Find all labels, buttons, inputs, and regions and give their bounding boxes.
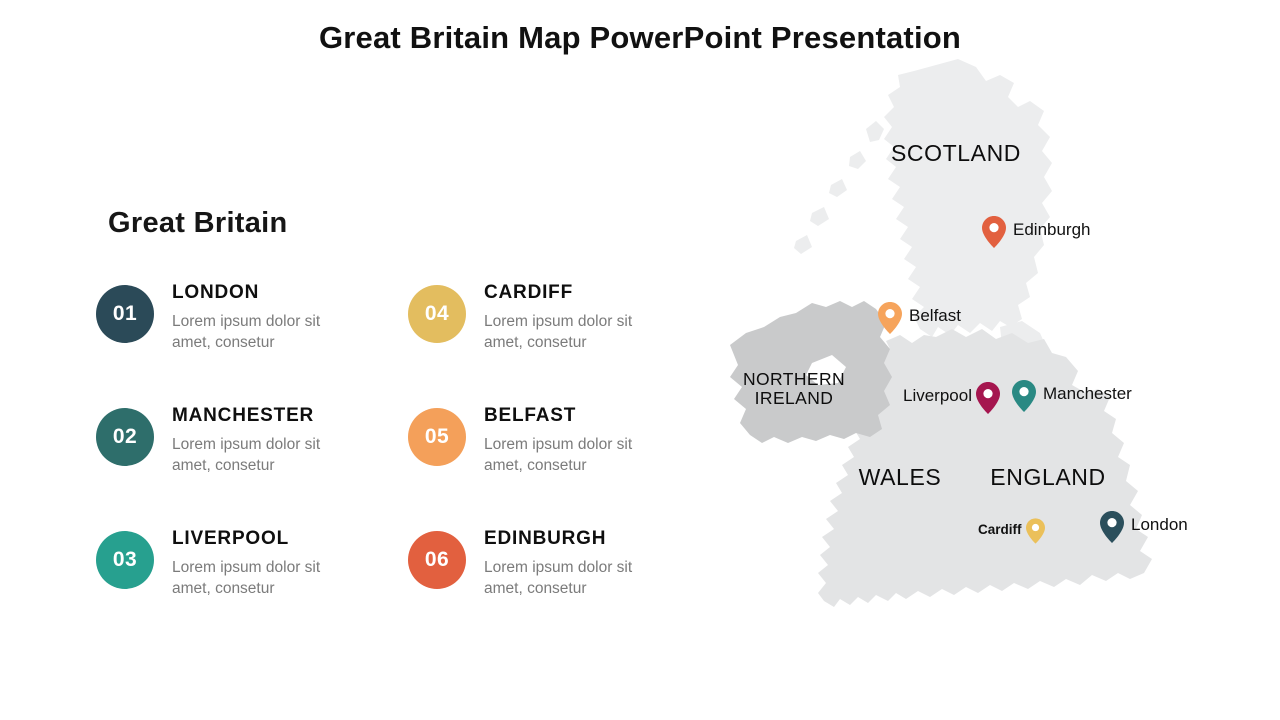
item-description: Lorem ipsum dolor sit amet, consetur bbox=[484, 558, 664, 600]
map-pin-label: Cardiff bbox=[978, 522, 1022, 537]
map-pin-label: Liverpool bbox=[903, 386, 972, 406]
map-pin-icon bbox=[976, 382, 1000, 414]
item-title: LONDON bbox=[172, 283, 352, 302]
list-item-cardiff[interactable]: 04 CARDIFF Lorem ipsum dolor sit amet, c… bbox=[408, 283, 664, 354]
map-pin-liverpool[interactable]: Liverpool bbox=[903, 382, 1000, 414]
list-item-manchester[interactable]: 02 MANCHESTER Lorem ipsum dolor sit amet… bbox=[96, 406, 352, 477]
item-number-badge: 02 bbox=[96, 408, 154, 466]
map-pin-label: Edinburgh bbox=[1013, 220, 1091, 240]
item-text: EDINBURGH Lorem ipsum dolor sit amet, co… bbox=[484, 529, 664, 600]
map-pin-icon bbox=[1100, 511, 1124, 543]
item-number-badge: 06 bbox=[408, 531, 466, 589]
item-text: BELFAST Lorem ipsum dolor sit amet, cons… bbox=[484, 406, 664, 477]
content-panel: Great Britain 01 LONDON Lorem ipsum dolo… bbox=[0, 0, 720, 720]
region-label-scotland: SCOTLAND bbox=[866, 141, 1046, 166]
map-pin-london[interactable]: London bbox=[1100, 511, 1188, 543]
item-number-badge: 05 bbox=[408, 408, 466, 466]
item-text: CARDIFF Lorem ipsum dolor sit amet, cons… bbox=[484, 283, 664, 354]
item-title: BELFAST bbox=[484, 406, 664, 425]
item-text: LONDON Lorem ipsum dolor sit amet, conse… bbox=[172, 283, 352, 354]
map-pin-belfast[interactable]: Belfast bbox=[878, 302, 961, 334]
list-item-liverpool[interactable]: 03 LIVERPOOL Lorem ipsum dolor sit amet,… bbox=[96, 529, 352, 600]
map-pin-label: London bbox=[1131, 515, 1188, 535]
list-item-london[interactable]: 01 LONDON Lorem ipsum dolor sit amet, co… bbox=[96, 283, 352, 354]
list-item-belfast[interactable]: 05 BELFAST Lorem ipsum dolor sit amet, c… bbox=[408, 406, 664, 477]
item-title: EDINBURGH bbox=[484, 529, 664, 548]
region-label-wales: WALES bbox=[830, 465, 970, 490]
item-description: Lorem ipsum dolor sit amet, consetur bbox=[172, 312, 352, 354]
map-pin-icon bbox=[1026, 518, 1045, 544]
list-item-edinburgh[interactable]: 06 EDINBURGH Lorem ipsum dolor sit amet,… bbox=[408, 529, 664, 600]
map-pin-label: Manchester bbox=[1043, 384, 1132, 404]
slide-canvas: Great Britain Map PowerPoint Presentatio… bbox=[0, 0, 1280, 720]
map-pin-edinburgh[interactable]: Edinburgh bbox=[982, 216, 1091, 248]
map-pin-cardiff[interactable]: Cardiff bbox=[978, 518, 1045, 544]
item-description: Lorem ipsum dolor sit amet, consetur bbox=[172, 435, 352, 477]
item-number-badge: 04 bbox=[408, 285, 466, 343]
item-text: LIVERPOOL Lorem ipsum dolor sit amet, co… bbox=[172, 529, 352, 600]
region-label-england: ENGLAND bbox=[958, 465, 1138, 490]
map-pin-icon bbox=[982, 216, 1006, 248]
item-title: CARDIFF bbox=[484, 283, 664, 302]
region-label-northern-ireland: NORTHERN IRELAND bbox=[704, 370, 884, 408]
item-description: Lorem ipsum dolor sit amet, consetur bbox=[484, 435, 664, 477]
section-heading: Great Britain bbox=[108, 207, 288, 240]
item-text: MANCHESTER Lorem ipsum dolor sit amet, c… bbox=[172, 406, 352, 477]
map-pin-manchester[interactable]: Manchester bbox=[1012, 380, 1132, 412]
item-description: Lorem ipsum dolor sit amet, consetur bbox=[484, 312, 664, 354]
map-pin-icon bbox=[1012, 380, 1036, 412]
map-pin-icon bbox=[878, 302, 902, 334]
item-title: MANCHESTER bbox=[172, 406, 352, 425]
map-pin-label: Belfast bbox=[909, 306, 961, 326]
item-description: Lorem ipsum dolor sit amet, consetur bbox=[172, 558, 352, 600]
great-britain-map: SCOTLAND NORTHERN IRELAND WALES ENGLAND … bbox=[700, 45, 1260, 685]
item-number-badge: 01 bbox=[96, 285, 154, 343]
item-number-badge: 03 bbox=[96, 531, 154, 589]
item-title: LIVERPOOL bbox=[172, 529, 352, 548]
